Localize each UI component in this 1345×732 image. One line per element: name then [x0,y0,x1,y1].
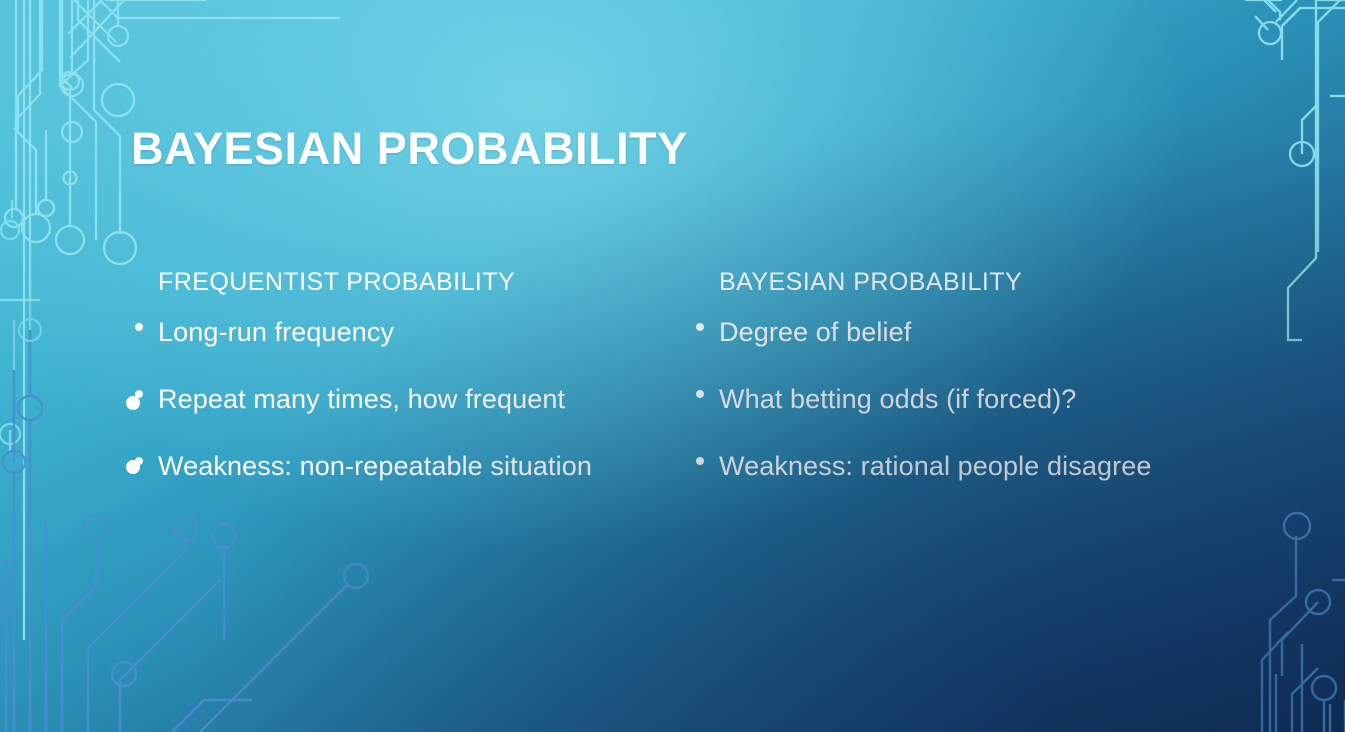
bullet-dot-icon [696,457,704,465]
list-item-label: Weakness: rational people disagree [719,451,1151,481]
bullet-dot-icon [135,457,143,465]
list-item: Weakness: rational people disagree [692,451,1272,483]
bullet-dot-icon [696,390,704,398]
bullet-list-frequentist: Long-run frequency Repeat many times, ho… [131,317,691,483]
slide-title: BAYESIAN PROBABILITY [131,124,688,174]
list-item: Weakness: non-repeatable situation [131,451,691,483]
list-item: What betting odds (if forced)? [692,384,1272,416]
bullet-dot-icon [135,390,143,398]
list-item: Long-run frequency [131,317,691,349]
bullet-dot-icon [696,323,704,331]
list-item: Degree of belief [692,317,1272,349]
bullet-list-bayesian: Degree of belief What betting odds (if f… [692,317,1272,483]
column-frequentist: FREQUENTIST PROBABILITY Long-run frequen… [131,268,691,483]
list-item-label: Long-run frequency [158,317,394,347]
column-heading-frequentist: FREQUENTIST PROBABILITY [158,268,691,297]
list-item: Repeat many times, how frequent [131,384,691,416]
list-item-label: Repeat many times, how frequent [158,384,565,414]
list-item-label: Degree of belief [719,317,911,347]
bullet-dot-icon [135,323,143,331]
list-item-label: What betting odds (if forced)? [719,384,1076,414]
slide-canvas: BAYESIAN PROBABILITY FREQUENTIST PROBABI… [0,0,1345,732]
column-bayesian: BAYESIAN PROBABILITY Degree of belief Wh… [692,268,1272,483]
list-item-label: Weakness: non-repeatable situation [158,451,592,481]
column-heading-bayesian: BAYESIAN PROBABILITY [719,268,1272,297]
